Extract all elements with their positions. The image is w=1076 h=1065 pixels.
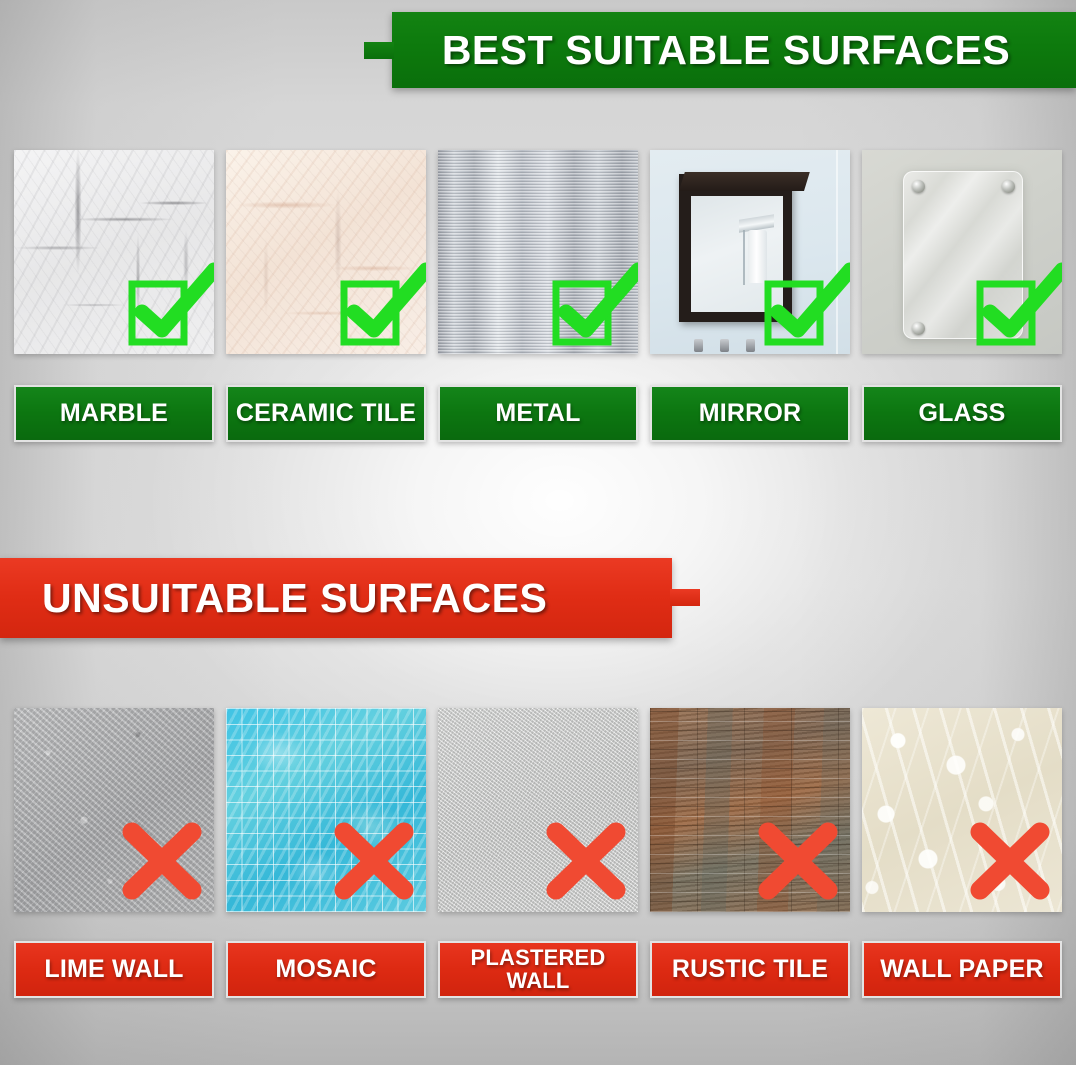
glass-standoff-bolt [912,180,925,193]
surface-label-mosaic: MOSAIC [226,941,426,998]
glass-standoff-bolt [1002,322,1015,335]
surface-tile-wall-paper [862,708,1062,912]
mirror-reflection-column [748,230,767,283]
wall-hook [720,339,729,352]
cross-icon [754,820,842,902]
mirror-top-shelf [679,172,810,191]
cross-icon [330,820,418,902]
surface-label-lime-wall: LIME WALL [14,941,214,998]
surface-label-wall-paper: WALL PAPER [862,941,1062,998]
mirror-reflection-edge [743,230,745,286]
surface-tile-lime-wall [14,708,214,912]
surface-tile-ceramic [226,150,426,354]
suitable-banner-title: BEST SUITABLE SURFACES [442,27,1026,74]
surface-tile-marble [14,150,214,354]
surface-tile-glass [862,150,1062,354]
glass-panel [903,171,1023,339]
surface-tile-mirror [650,150,850,354]
banner-notch-tab [670,589,700,606]
unsuitable-tiles-row [14,708,1062,912]
surface-label-mirror: MIRROR [650,385,850,442]
wall-hook [694,339,703,352]
surface-tile-rustic-tile [650,708,850,912]
glass-standoff-bolt [1002,180,1015,193]
cross-icon [118,820,206,902]
mirror-frame [679,174,792,322]
surface-label-glass: GLASS [862,385,1062,442]
surface-tile-metal [438,150,638,354]
unsuitable-surfaces-banner: UNSUITABLE SURFACES [0,558,672,638]
check-icon [550,262,638,348]
cross-icon [966,820,1054,902]
suitable-labels-row: MARBLE CERAMIC TILE METAL MIRROR GLASS [14,385,1062,442]
suitable-surfaces-banner: BEST SUITABLE SURFACES [392,12,1076,88]
surface-label-plastered-wall: PLASTERED WALL [438,941,638,998]
surface-label-metal: METAL [438,385,638,442]
banner-notch-tab [364,42,394,59]
wall-hook [746,339,755,352]
surface-label-rustic-tile: RUSTIC TILE [650,941,850,998]
suitable-tiles-row [14,150,1062,354]
wall-seam [836,150,838,354]
cross-icon [542,820,630,902]
unsuitable-banner-title: UNSUITABLE SURFACES [0,575,547,622]
surface-compatibility-infographic: BEST SUITABLE SURFACES [0,0,1076,1065]
surface-label-ceramic-tile: CERAMIC TILE [226,385,426,442]
surface-label-marble: MARBLE [14,385,214,442]
wall-hooks [694,339,755,352]
surface-tile-mosaic [226,708,426,912]
mirror-glass [691,196,783,312]
surface-tile-plastered-wall [438,708,638,912]
check-icon [338,262,426,348]
glass-standoff-bolt [912,322,925,335]
unsuitable-labels-row: LIME WALL MOSAIC PLASTERED WALL RUSTIC T… [14,941,1062,998]
check-icon [126,262,214,348]
